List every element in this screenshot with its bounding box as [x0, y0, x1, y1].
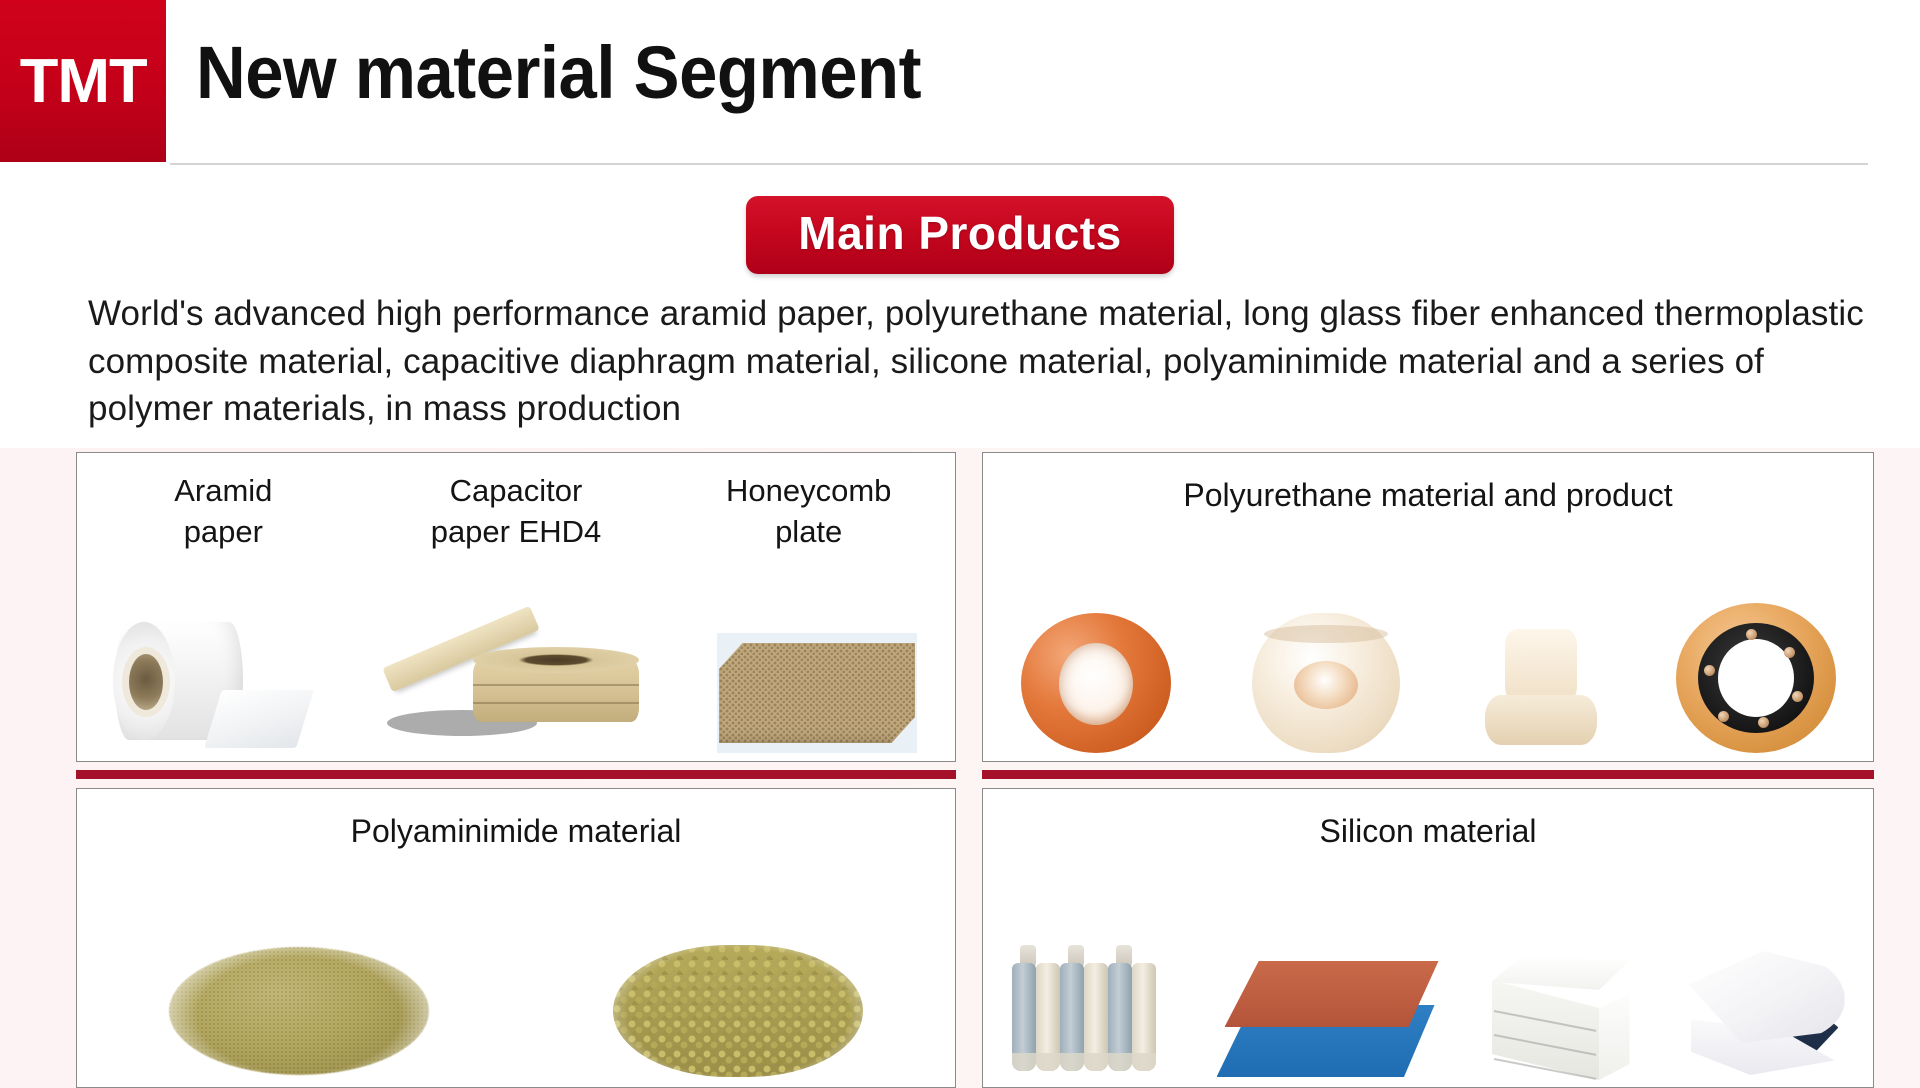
label-honeycomb-plate-line2: plate [775, 514, 842, 549]
slide-canvas: TMT New material Segment Main Products W… [0, 0, 1920, 1088]
silicone-sealant-cartridges-image [1006, 937, 1166, 1087]
card-title-polyurethane: Polyurethane material and product [983, 475, 1873, 517]
polyaminimide-image-row [77, 887, 955, 1087]
divider-bar-left [76, 770, 956, 779]
main-products-badge-wrap: Main Products [0, 196, 1920, 274]
tmt-logo-text: TMT [20, 46, 147, 117]
intro-paragraph: World's advanced high performance aramid… [88, 290, 1878, 433]
polyurethane-image-row [983, 573, 1873, 753]
aramid-column-labels: Aramid paper Capacitor paper EHD4 Honeyc… [77, 471, 955, 553]
label-honeycomb-plate: Honeycomb plate [662, 471, 955, 553]
label-honeycomb-plate-line1: Honeycomb [726, 473, 891, 508]
polyaminimide-pellets-image [613, 937, 863, 1087]
silicone-folded-sheet-image [1681, 947, 1851, 1087]
polyurethane-cream-spool-image [1246, 613, 1406, 753]
divider-bar-right [982, 770, 1874, 779]
card-title-polyaminimide: Polyaminimide material [77, 811, 955, 853]
aramid-image-row [77, 573, 955, 753]
silicone-foam-block-image [1486, 952, 1636, 1087]
label-capacitor-paper-line2: paper EHD4 [431, 514, 602, 549]
card-polyurethane: Polyurethane material and product [982, 452, 1874, 762]
header-divider-rule [170, 163, 1868, 165]
capacitor-paper-rolls-image [381, 618, 641, 753]
label-aramid-paper: Aramid paper [77, 471, 370, 553]
slide-header: TMT New material Segment [0, 0, 1920, 168]
card-silicon: Silicon material [982, 788, 1874, 1088]
polyurethane-orange-bushing-image [1021, 613, 1171, 753]
tmt-logo: TMT [0, 0, 166, 162]
label-aramid-paper-line1: Aramid [174, 473, 272, 508]
card-polyaminimide: Polyaminimide material [76, 788, 956, 1088]
card-title-silicon: Silicon material [983, 811, 1873, 853]
page-title: New material Segment [196, 30, 921, 115]
product-card-grid: Aramid paper Capacitor paper EHD4 Honeyc… [0, 448, 1920, 1088]
honeycomb-plate-image [717, 633, 917, 753]
polyaminimide-powder-image [169, 937, 429, 1087]
silicon-image-row [983, 887, 1873, 1087]
label-aramid-paper-line2: paper [184, 514, 263, 549]
polyurethane-cream-bobbin-image [1481, 621, 1601, 753]
polyurethane-amber-wheel-image [1676, 603, 1836, 753]
silicone-sheets-image [1211, 947, 1441, 1087]
label-capacitor-paper: Capacitor paper EHD4 [370, 471, 663, 553]
label-capacitor-paper-line1: Capacitor [450, 473, 583, 508]
card-aramid-paper: Aramid paper Capacitor paper EHD4 Honeyc… [76, 452, 956, 762]
main-products-badge: Main Products [746, 196, 1173, 274]
aramid-paper-roll-image [115, 618, 305, 753]
